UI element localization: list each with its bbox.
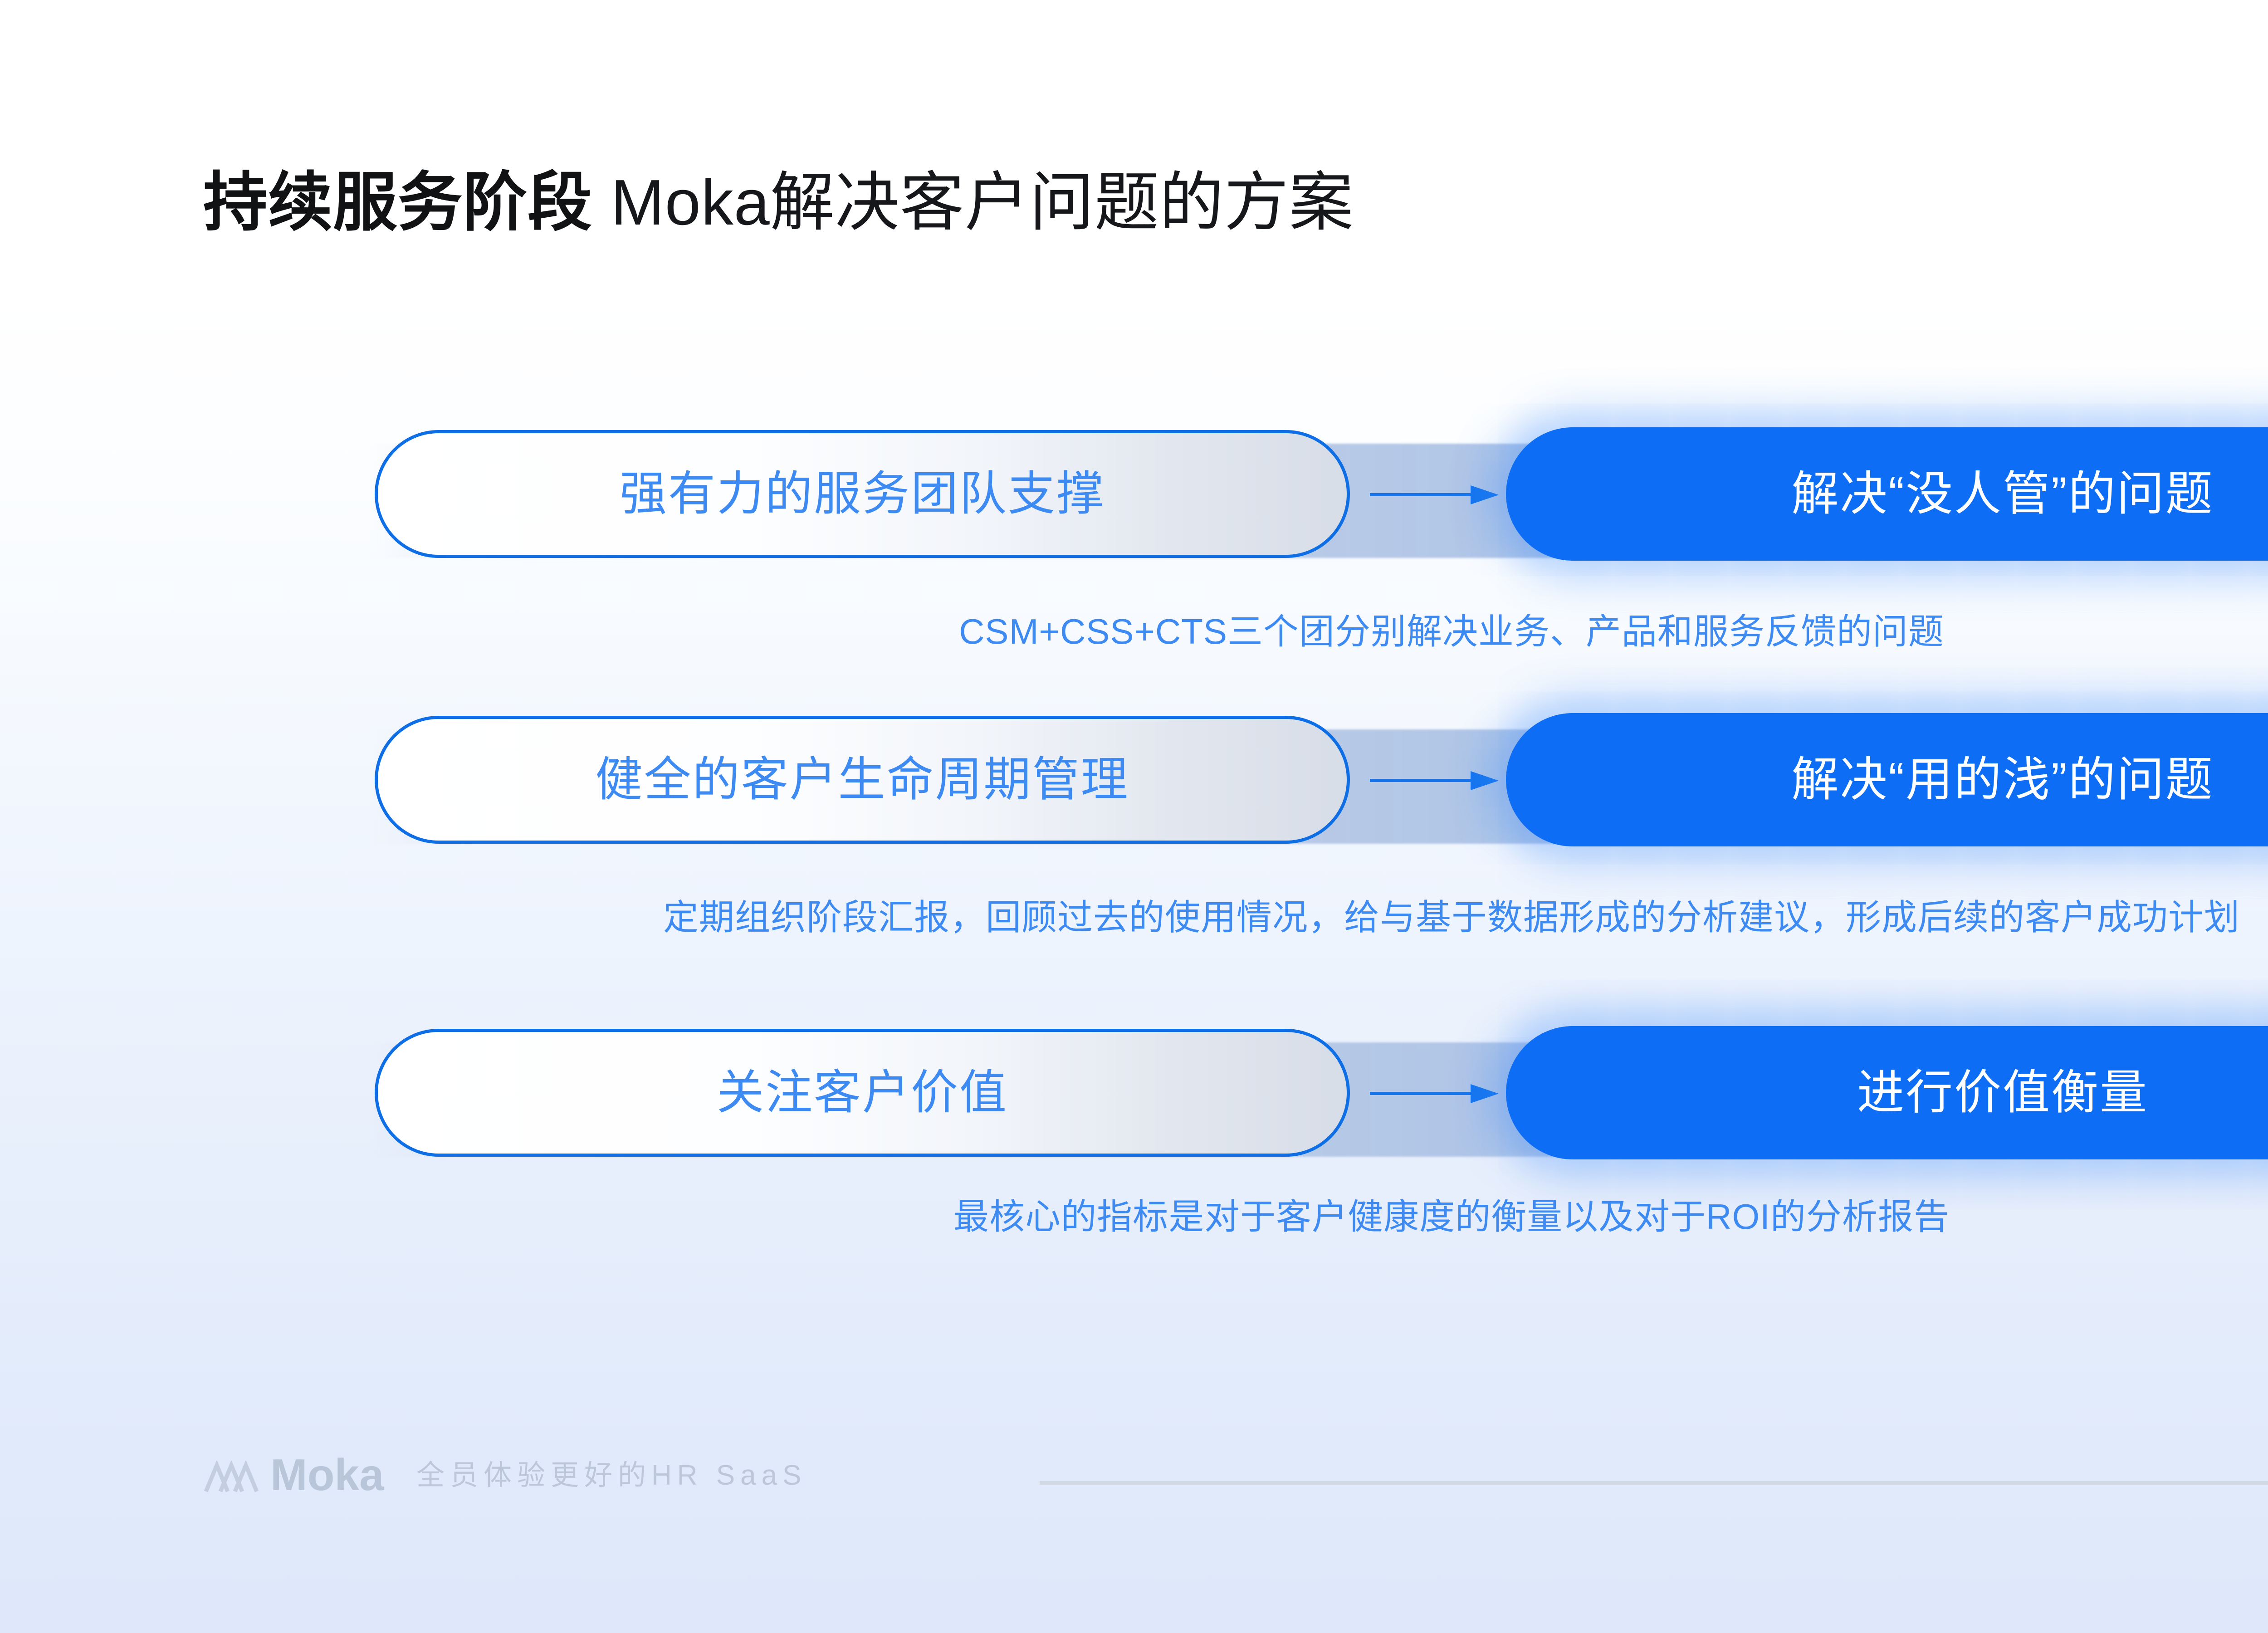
page-title: 持续服务阶段 Moka解决客户问题的方案 (203, 150, 1354, 243)
moka-wordmark: Moka (270, 1452, 384, 1497)
page-title-rest: Moka解决客户问题的方案 (592, 166, 1354, 239)
flow-row-3: 关注客户价值 进行价值衡量 (0, 1021, 2268, 1157)
footer-tagline: 全员体验更好的HR SaaS (416, 1462, 807, 1490)
outcome-pill-label-3: 进行价值衡量 (1857, 1069, 2148, 1116)
arrow-shaft (1370, 493, 1474, 496)
outcome-pill-label-2: 解决“用的浅”的问题 (1791, 756, 2214, 803)
arrow-right-icon-1 (1370, 485, 1501, 504)
row-caption-2: 定期组织阶段汇报，回顾过去的使用情况，给与基于数据形成的分析建议，形成后续的客户… (0, 889, 2268, 940)
outcome-pill-label-1: 解决“没人管”的问题 (1791, 470, 2214, 518)
capability-pill-3[interactable]: 关注客户价值 (375, 1029, 1350, 1157)
arrow-right-icon-3 (1370, 1084, 1501, 1102)
capability-pill-label-1: 强有力的服务团队支撑 (620, 470, 1105, 518)
footer-divider (1040, 1481, 2268, 1485)
row-caption-1: CSM+CSS+CTS三个团分别解决业务、产品和服务反馈的问题 (0, 603, 2268, 654)
arrow-head (1471, 771, 1499, 790)
arrow-head (1471, 485, 1499, 504)
page-title-strong: 持续服务阶段 (203, 166, 592, 239)
outcome-pill-3[interactable]: 进行价值衡量 (1506, 1026, 2268, 1159)
outcome-pill-2[interactable]: 解决“用的浅”的问题 (1506, 713, 2268, 846)
arrow-shaft (1370, 1092, 1474, 1095)
moka-mountain-logo-icon (203, 1461, 261, 1493)
arrow-right-icon-2 (1370, 771, 1501, 789)
capability-pill-label-2: 健全的客户生命周期管理 (595, 756, 1129, 803)
flow-row-2: 健全的客户生命周期管理 解决“用的浅”的问题 (0, 708, 2268, 844)
arrow-head (1471, 1084, 1499, 1103)
row-caption-3: 最核心的指标是对于客户健康度的衡量以及对于ROI的分析报告 (0, 1188, 2268, 1239)
slide-canvas: 持续服务阶段 Moka解决客户问题的方案 强有力的服务团队支撑 解决“没人管”的… (0, 0, 2268, 1633)
capability-pill-label-3: 关注客户价值 (717, 1069, 1008, 1116)
flow-row-1: 强有力的服务团队支撑 解决“没人管”的问题 (0, 422, 2268, 558)
arrow-shaft (1370, 779, 1474, 782)
capability-pill-1[interactable]: 强有力的服务团队支撑 (375, 430, 1350, 558)
footer: Moka 全员体验更好的HR SaaS (0, 1442, 2268, 1533)
outcome-pill-1[interactable]: 解决“没人管”的问题 (1506, 427, 2268, 561)
capability-pill-2[interactable]: 健全的客户生命周期管理 (375, 716, 1350, 844)
